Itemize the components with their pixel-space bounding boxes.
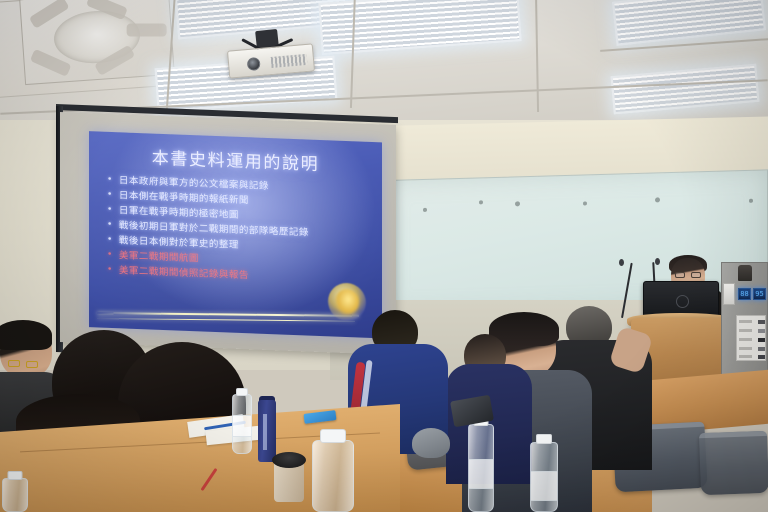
dispenser-led-left: 88 (738, 288, 751, 300)
ceiling-light-panel (318, 0, 521, 55)
bullet-dot-icon: • (107, 234, 113, 248)
dispenser-led-right-value: 95 (754, 289, 765, 300)
bottle-label (469, 459, 493, 489)
bottle-cap (536, 434, 552, 444)
microphone-head-icon (655, 258, 660, 265)
bottle-cap (320, 429, 346, 443)
cup-lid (272, 452, 306, 468)
microphone-head-icon (619, 259, 624, 266)
bullet-dot-icon: • (107, 249, 113, 263)
water-bottle[interactable] (530, 442, 558, 512)
thermos-flask[interactable] (258, 400, 276, 462)
globe-icon (328, 282, 366, 321)
slide-bullet-list: •日本政府與軍方的公文檔案與記錄 •日本側在戰爭時期的報紙新聞 •日軍在戰爭時期… (107, 174, 369, 289)
water-bottle[interactable] (468, 424, 494, 512)
bullet-dot-icon: • (107, 264, 113, 278)
cup-stack (723, 283, 735, 305)
ceiling-grid-line (535, 0, 539, 112)
water-bottle[interactable] (2, 478, 28, 512)
dispenser-control-panel[interactable] (736, 315, 766, 361)
bottle-label (233, 415, 251, 437)
slide-decor-rule (97, 318, 355, 322)
dispenser-bottle (738, 265, 752, 281)
chair[interactable] (699, 431, 768, 495)
bottle-cap (236, 388, 248, 396)
ceiling-light-panel (611, 64, 760, 115)
ceiling-light-panel (612, 0, 766, 46)
bullet-dot-icon: • (107, 219, 113, 233)
glasses-icon (675, 272, 701, 278)
bullet-dot-icon: • (107, 189, 113, 203)
attendee-hair (0, 320, 52, 350)
lecture-room-photo: 本書史料運用的說明 •日本政府與軍方的公文檔案與記錄 •日本側在戰爭時期的報紙新… (0, 0, 768, 512)
projector-vent (271, 54, 308, 68)
slide-title: 本書史料運用的說明 (89, 141, 382, 177)
bullet-dot-icon: • (107, 174, 113, 188)
thermos-stripe (263, 414, 267, 450)
ac-vent-grille (19, 0, 175, 85)
bullet-dot-icon: • (107, 204, 113, 218)
dispenser-led-left-value: 88 (739, 289, 750, 300)
glasses-icon (8, 360, 38, 368)
projector-lens-icon (247, 57, 261, 71)
slide-decor-rule (97, 312, 359, 316)
slide-bullet-text: 美軍二戰期間航圖 (119, 249, 199, 265)
presentation-slide: 本書史料運用的說明 •日本政府與軍方的公文檔案與記錄 •日本側在戰爭時期的報紙新… (89, 131, 382, 338)
water-bottle[interactable] (232, 394, 252, 454)
dispenser-led-right: 95 (753, 288, 766, 300)
bottle-cap (8, 471, 23, 480)
computer-mouse[interactable] (412, 428, 450, 458)
bottle-label (531, 471, 557, 501)
water-bottle[interactable] (312, 440, 354, 512)
projection-screen: 本書史料運用的說明 •日本政府與軍方的公文檔案與記錄 •日本側在戰爭時期的報紙新… (60, 112, 396, 355)
slide-bullet-text: 美軍二戰期間偵照記錄與報告 (119, 264, 249, 282)
